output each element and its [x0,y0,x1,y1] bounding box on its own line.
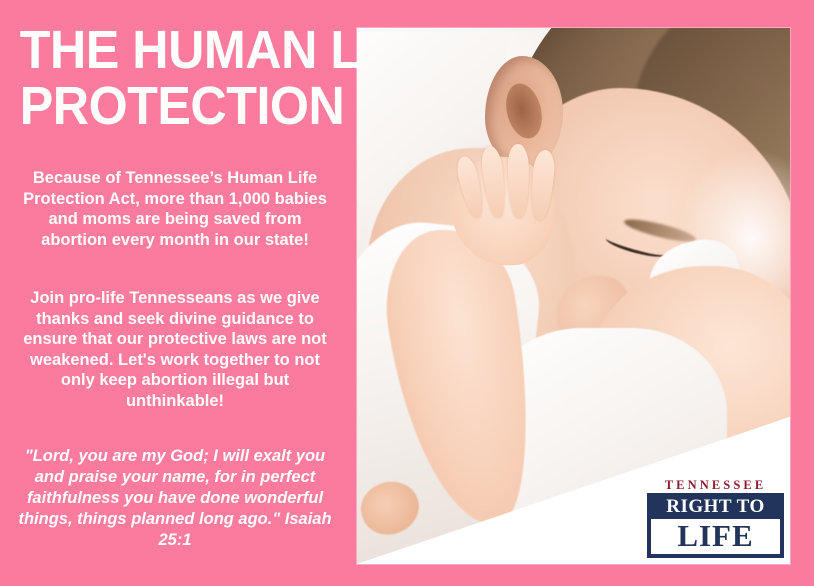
mother-and-baby-photo: TENNESSEE RIGHT TO LIFE [357,28,790,564]
scripture-quote: "Lord, you are my God; I will exalt you … [12,446,338,551]
logo-life-panel: LIFE [651,519,780,554]
text-column: THE HUMAN LIFE PROTECTION ACT Because of… [0,0,350,586]
logo-line-life: LIFE [651,520,780,552]
body-paragraph-two: Join pro-life Tennesseans as we give tha… [14,288,336,411]
headline-line-1: THE HUMAN LIFE [20,22,332,78]
page-title: THE HUMAN LIFE PROTECTION ACT [20,22,332,134]
tennessee-right-to-life-logo: TENNESSEE RIGHT TO LIFE [647,478,784,560]
logo-state-label: TENNESSEE [647,478,784,492]
headline-line-2: PROTECTION ACT [20,78,332,134]
logo-navy-box: RIGHT TO LIFE [647,493,784,558]
body-paragraph-one: Because of Tennessee’s Human Life Protec… [14,168,336,250]
logo-line-right-to: RIGHT TO [651,496,780,517]
poster: THE HUMAN LIFE PROTECTION ACT Because of… [0,0,814,586]
